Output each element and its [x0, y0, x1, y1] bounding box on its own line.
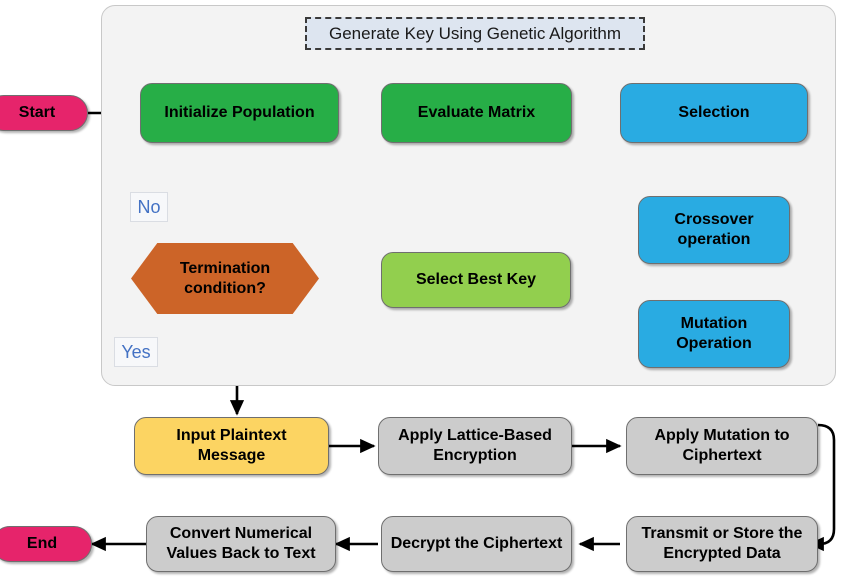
- node-termination-condition-line1: Termination: [180, 259, 270, 279]
- node-select-best-key[interactable]: Select Best Key: [381, 252, 571, 308]
- node-input-plaintext-line2: Message: [198, 446, 266, 466]
- end-terminator[interactable]: End: [0, 526, 92, 562]
- branch-label-yes: Yes: [114, 337, 158, 367]
- node-crossover-operation-line2: operation: [678, 230, 751, 250]
- branch-label-no: No: [130, 192, 168, 222]
- node-selection[interactable]: Selection: [620, 83, 808, 143]
- node-convert-numerical-values-back-to-text[interactable]: Convert Numerical Values Back to Text: [146, 516, 336, 572]
- node-convert-line1: Convert Numerical: [170, 524, 312, 544]
- node-transmit-line1: Transmit or Store the: [642, 524, 803, 544]
- node-lattice-line1: Apply Lattice-Based: [398, 426, 552, 446]
- node-termination-condition-line2: condition?: [184, 279, 266, 299]
- node-crossover-operation-line1: Crossover: [674, 210, 753, 230]
- node-initialize-population[interactable]: Initialize Population: [140, 83, 339, 143]
- node-mutation-cipher-line1: Apply Mutation to: [654, 426, 789, 446]
- node-mutation-operation-line1: Mutation: [681, 314, 748, 334]
- node-transmit-or-store-the-encrypted-data[interactable]: Transmit or Store the Encrypted Data: [626, 516, 818, 572]
- node-apply-mutation-to-ciphertext[interactable]: Apply Mutation to Ciphertext: [626, 417, 818, 475]
- node-mutation-operation-line2: Operation: [676, 334, 752, 354]
- node-decrypt-the-ciphertext[interactable]: Decrypt the Ciphertext: [381, 516, 572, 572]
- flowchart-canvas: Generate Key Using Genetic Algorithm: [0, 0, 847, 584]
- node-termination-condition[interactable]: Termination condition?: [131, 243, 319, 314]
- node-lattice-line2: Encryption: [433, 446, 517, 466]
- node-apply-lattice-based-encryption[interactable]: Apply Lattice-Based Encryption: [378, 417, 572, 475]
- node-transmit-line2: Encrypted Data: [663, 544, 780, 564]
- node-crossover-operation[interactable]: Crossover operation: [638, 196, 790, 264]
- node-mutation-operation[interactable]: Mutation Operation: [638, 300, 790, 368]
- node-evaluate-matrix[interactable]: Evaluate Matrix: [381, 83, 572, 143]
- node-input-plaintext-line1: Input Plaintext: [176, 426, 286, 446]
- node-convert-line2: Values Back to Text: [166, 544, 315, 564]
- diagram-title: Generate Key Using Genetic Algorithm: [305, 17, 645, 50]
- start-terminator[interactable]: Start: [0, 95, 88, 131]
- node-mutation-cipher-line2: Ciphertext: [682, 446, 761, 466]
- node-input-plaintext-message[interactable]: Input Plaintext Message: [134, 417, 329, 475]
